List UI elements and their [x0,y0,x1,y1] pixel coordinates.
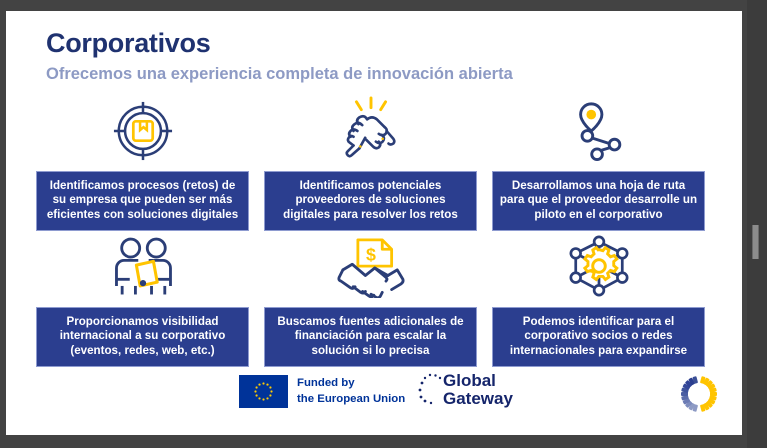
card-icon-wrap [264,103,477,169]
card-caption-box: Podemos identificar para el corporativo … [492,307,705,367]
card-icon-wrap [36,103,249,169]
card-item: Identificamos procesos (retos) de su emp… [36,103,249,231]
two-people-document-icon [107,236,179,303]
card-caption-box: Buscamos fuentes adicionales de financia… [264,307,477,367]
circular-brand-icon [678,373,720,415]
card-caption: Buscamos fuentes adicionales de financia… [271,315,470,359]
global-gateway-stars-icon [416,372,442,408]
handshake-fistbump-icon [338,96,404,167]
global-gateway-logo: Global Gateway [416,372,513,409]
vertical-scrollbar-track[interactable] [747,0,767,448]
card-item: Podemos identificar para el corporativo … [492,239,705,367]
card-icon-wrap [36,239,249,305]
svg-text:$: $ [366,245,376,265]
page-title: Corporativos [46,29,513,59]
network-gear-icon [566,234,632,303]
card-caption-box: Proporcionamos visibilidad internacional… [36,307,249,367]
card-caption: Identificamos potenciales proveedores de… [271,179,470,223]
route-map-pin-icon [568,100,630,167]
card-caption-box: Identificamos potenciales proveedores de… [264,171,477,231]
global-gateway-text: Global Gateway [443,372,513,409]
slide-footer: Funded by the European Union [6,371,742,421]
eu-funding-line1: Funded by [297,376,405,391]
card-caption: Identificamos procesos (retos) de su emp… [43,179,242,223]
card-item: Desarrollamos una hoja de ruta para que … [492,103,705,231]
card-caption: Proporcionamos visibilidad internacional… [43,315,242,359]
slide-canvas: Corporativos Ofrecemos una experiencia c… [6,11,742,435]
handshake-money-document-icon: $ [337,238,405,303]
eu-funding-line2: the European Union [297,392,405,407]
slide-header: Corporativos Ofrecemos una experiencia c… [46,29,513,84]
card-caption: Podemos identificar para el corporativo … [499,315,698,359]
global-gateway-line1: Global [443,372,513,390]
card-icon-wrap [492,103,705,169]
card-item: $ [264,239,477,367]
card-caption: Desarrollamos una hoja de ruta para que … [499,179,698,223]
card-icon-wrap [492,239,705,305]
document-viewer: Corporativos Ofrecemos una experiencia c… [0,0,767,448]
eu-funding-text: Funded by the European Union [297,376,405,406]
card-caption-box: Desarrollamos una hoja de ruta para que … [492,171,705,231]
eu-flag-icon [239,375,288,408]
eu-funding-logo: Funded by the European Union [239,375,405,408]
card-item: Proporcionamos visibilidad internacional… [36,239,249,367]
cards-grid: Identificamos procesos (retos) de su emp… [36,103,716,367]
card-icon-wrap: $ [264,239,477,305]
card-caption-box: Identificamos procesos (retos) de su emp… [36,171,249,231]
target-package-icon [112,100,174,167]
card-item: Identificamos potenciales proveedores de… [264,103,477,231]
page-subtitle: Ofrecemos una experiencia completa de in… [46,65,513,85]
global-gateway-line2: Gateway [443,390,513,408]
vertical-scrollbar-thumb[interactable] [752,225,759,259]
